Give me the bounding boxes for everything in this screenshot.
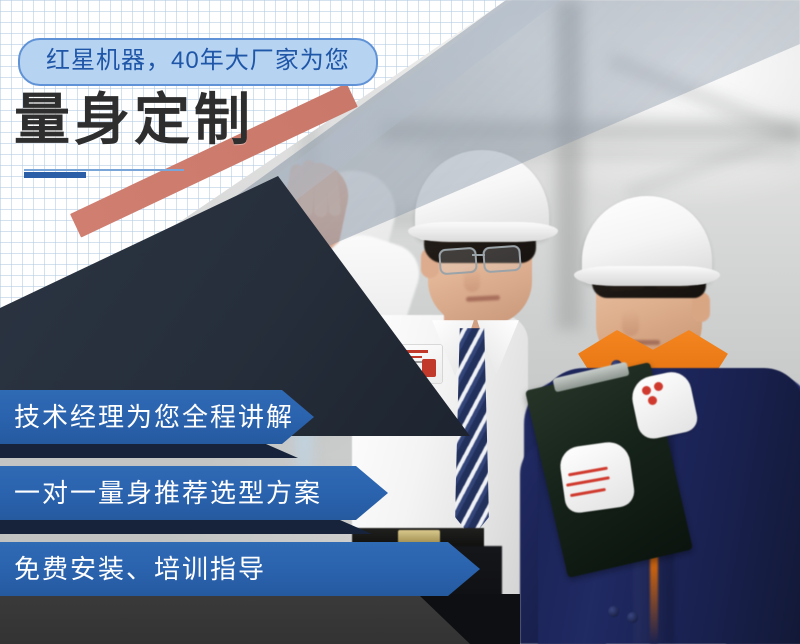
title-rule-thick: [24, 172, 86, 178]
glasses-bridge-icon: [472, 254, 485, 256]
glove-marking: [642, 386, 651, 395]
glove-marking: [648, 396, 657, 405]
button-icon: [627, 612, 638, 623]
page-title: 量身定制: [14, 92, 254, 148]
title-rule-thin: [24, 169, 184, 171]
feature-bar-2: 一对一量身推荐选型方案: [0, 466, 388, 520]
work-glove-icon: [558, 439, 637, 514]
worker-nose: [622, 310, 639, 336]
feature-bar-3: 免费安装、培训指导: [0, 542, 480, 596]
button-icon: [608, 606, 619, 617]
tagline-badge: 红星机器，40年大厂家为您: [18, 38, 378, 86]
feature-bar-shadow: [0, 444, 298, 458]
feature-bar-1-label: 技术经理为您全程讲解: [0, 404, 294, 430]
feature-bar-2-label: 一对一量身推荐选型方案: [0, 480, 322, 506]
glove-marking: [654, 382, 663, 391]
hard-hat-brim-icon: [408, 222, 558, 242]
hero-banner: 红星机器，40年大厂家为您 量身定制 技术经理为您全程讲解 一对一量身推荐选型方…: [0, 0, 800, 644]
feature-bar-1: 技术经理为您全程讲解: [0, 390, 314, 444]
feature-bar-3-label: 免费安装、培训指导: [0, 556, 266, 582]
glasses-icon: [482, 245, 522, 274]
bottom-charcoal-band: [0, 596, 470, 644]
hard-hat-brim-icon: [574, 266, 720, 286]
engineer-nose: [464, 268, 480, 292]
feature-bar-shadow: [0, 520, 372, 534]
